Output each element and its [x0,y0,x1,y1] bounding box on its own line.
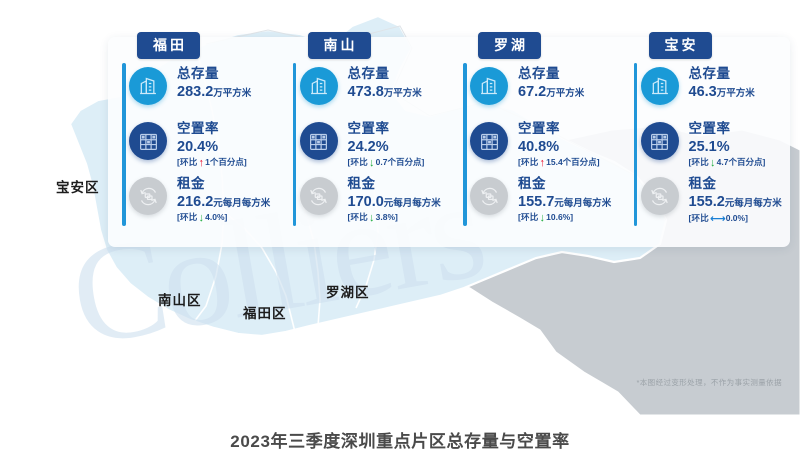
delta-prefix: [环比 [518,157,538,167]
stats-panel: 福田 总存量 283.2万平方米 [108,37,790,247]
metric-value: 25.1% [689,138,791,156]
metric-label: 空置率 [518,121,620,137]
money-cycle-icon [470,177,508,215]
metric-rent: 租金 155.7元每月每方米 [环比↓10.6%] [470,176,620,228]
arrow-down-icon: ↓ [368,212,376,224]
arrow-down-icon: ↓ [368,157,376,169]
metric-label: 空置率 [177,121,279,137]
metric-value: 155.2元每月每方米 [689,193,791,211]
building-icon [129,67,167,105]
map-label-baoan: 宝安区 [56,176,100,196]
district-card: 南山 总存量 473.8万平方米 [279,37,450,247]
metric-number: 24.2% [348,139,389,155]
metric-label: 总存量 [177,66,279,82]
delta-suffix: ] [421,157,424,167]
metric-value: 473.8万平方米 [348,83,450,101]
metric-value: 155.7元每月每方米 [518,193,620,211]
metric-unit: 万平方米 [546,88,584,99]
metric-delta: [环比⟷0.0%] [689,211,791,224]
metric-unit: 万平方米 [717,88,755,99]
metric-label: 空置率 [348,121,450,137]
district-card: 福田 总存量 283.2万平方米 [108,37,279,247]
metric-number: 283.2 [177,84,213,100]
building-grid-icon [300,122,338,160]
metric-unit: 元每月每方米 [213,198,270,209]
delta-value: 4.0% [205,212,224,222]
metric-number: 25.1% [689,139,730,155]
metric-number: 155.2 [689,194,725,210]
delta-prefix: [环比 [177,212,197,222]
metric-unit: 元每月每方米 [725,198,782,209]
delta-prefix: [环比 [177,157,197,167]
building-grid-icon [470,122,508,160]
card-district-title: 福田 [137,32,200,59]
arrow-up-icon: ↑ [197,157,205,169]
metric-number: 155.7 [518,194,554,210]
delta-prefix: [环比 [689,213,709,223]
metric-unit: 万平方米 [384,88,422,99]
map-label-futian: 福田区 [243,302,287,322]
card-metrics: 总存量 283.2万平方米 [129,66,279,228]
metric-total-stock: 总存量 473.8万平方米 [300,66,450,121]
metric-unit: 元每月每方米 [384,198,441,209]
delta-suffix: ] [395,212,398,222]
delta-suffix: ] [225,212,228,222]
money-cycle-icon [300,177,338,215]
arrow-flat-icon: ⟷ [709,213,726,225]
metric-unit: 万平方米 [213,88,251,99]
delta-suffix: ] [762,157,765,167]
metric-vacancy-rate: 空置率 20.4% [环比↑1个百分点] [129,121,279,176]
arrow-down-icon: ↓ [197,212,205,224]
delta-value: 1个百分点 [205,157,244,167]
metric-value: 24.2% [348,138,450,156]
card-accent-bar [293,63,297,226]
card-metrics: 总存量 473.8万平方米 [300,66,450,228]
metric-total-stock: 总存量 67.2万平方米 [470,66,620,121]
card-accent-bar [122,63,126,226]
delta-prefix: [环比 [689,157,709,167]
metric-number: 67.2 [518,84,546,100]
card-accent-bar [634,63,638,226]
metric-number: 216.2 [177,194,213,210]
metric-value: 40.8% [518,138,620,156]
building-icon [470,67,508,105]
delta-prefix: [环比 [348,212,368,222]
building-grid-icon [129,122,167,160]
delta-value: 3.8% [376,212,395,222]
metric-delta: [环比↓3.8%] [348,211,450,223]
metric-delta: [环比↓4.0%] [177,211,279,223]
metric-label: 空置率 [689,121,791,137]
delta-prefix: [环比 [518,212,538,222]
metric-label: 租金 [689,176,791,192]
delta-prefix: [环比 [348,157,368,167]
metric-number: 20.4% [177,139,218,155]
money-cycle-icon [641,177,679,215]
building-icon [641,67,679,105]
metric-number: 40.8% [518,139,559,155]
metric-value: 20.4% [177,138,279,156]
metric-label: 租金 [518,176,620,192]
metric-value: 170.0元每月每方米 [348,193,450,211]
metric-delta: [环比↓0.7个百分点] [348,156,450,168]
chart-title: 2023年三季度深圳重点片区总存量与空置率 [0,427,800,452]
card-metrics: 总存量 46.3万平方米 [641,66,791,228]
metric-vacancy-rate: 空置率 24.2% [环比↓0.7个百分点] [300,121,450,176]
metric-label: 总存量 [518,66,620,82]
infographic-canvas: Colliers 宝安区 南山区 福田区 罗湖区 *本图经过变形处理，不作为事实… [0,0,800,471]
arrow-up-icon: ↑ [538,157,546,169]
district-cards-row: 福田 总存量 283.2万平方米 [108,37,790,247]
metric-label: 租金 [177,176,279,192]
metric-label: 租金 [348,176,450,192]
delta-suffix: ] [570,212,573,222]
metric-value: 283.2万平方米 [177,83,279,101]
delta-suffix: ] [745,213,748,223]
map-bay-west [0,230,104,336]
building-icon [300,67,338,105]
building-grid-icon [641,122,679,160]
arrow-down-icon: ↓ [709,157,717,169]
card-district-title: 宝安 [649,32,712,59]
metric-label: 总存量 [689,66,791,82]
money-cycle-icon [129,177,167,215]
metric-number: 46.3 [689,84,717,100]
metric-number: 473.8 [348,84,384,100]
metric-vacancy-rate: 空置率 25.1% [环比↓4.7个百分点] [641,121,791,176]
delta-suffix: ] [244,157,247,167]
delta-value: 15.4个百分点 [546,157,597,167]
metric-label: 总存量 [348,66,450,82]
metric-value: 216.2元每月每方米 [177,193,279,211]
metric-delta: [环比↑15.4个百分点] [518,156,620,168]
metric-rent: 租金 216.2元每月每方米 [环比↓4.0%] [129,176,279,228]
delta-value: 4.7个百分点 [717,157,763,167]
delta-value: 10.6% [546,212,570,222]
map-label-nanshan: 南山区 [158,289,202,309]
metric-total-stock: 总存量 46.3万平方米 [641,66,791,121]
map-label-luohu: 罗湖区 [326,281,370,301]
metric-value: 46.3万平方米 [689,83,791,101]
card-district-title: 罗湖 [478,32,541,59]
metric-vacancy-rate: 空置率 40.8% [环比↑15.4个百分点] [470,121,620,176]
metric-rent: 租金 170.0元每月每方米 [环比↓3.8%] [300,176,450,228]
metric-unit: 元每月每方米 [554,198,611,209]
metric-delta: [环比↓4.7个百分点] [689,156,791,168]
map-footnote: *本图经过变形处理，不作为事实测量依据 [636,377,782,388]
metric-delta: [环比↓10.6%] [518,211,620,223]
metric-number: 170.0 [348,194,384,210]
metric-value: 67.2万平方米 [518,83,620,101]
delta-value: 0.7个百分点 [376,157,422,167]
metric-delta: [环比↑1个百分点] [177,156,279,168]
district-card: 宝安 总存量 46.3万平方米 [620,37,791,247]
metric-total-stock: 总存量 283.2万平方米 [129,66,279,121]
district-card: 罗湖 总存量 67.2万平方米 [449,37,620,247]
card-district-title: 南山 [308,32,371,59]
delta-suffix: ] [597,157,600,167]
arrow-down-icon: ↓ [538,212,546,224]
metric-rent: 租金 155.2元每月每方米 [环比⟷0.0%] [641,176,791,228]
card-accent-bar [463,63,467,226]
card-metrics: 总存量 67.2万平方米 [470,66,620,228]
delta-value: 0.0% [726,213,745,223]
